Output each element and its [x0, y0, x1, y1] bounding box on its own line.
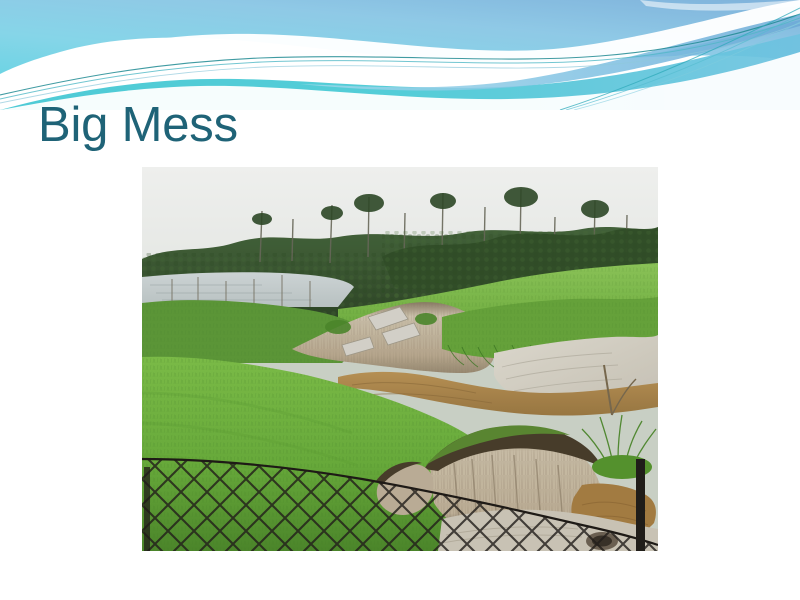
header-corner-line-1 [560, 8, 800, 110]
presentation-slide: Big Mess [0, 0, 800, 600]
header-topright-highlight [640, 0, 800, 11]
header-gradient-shape [0, 0, 800, 74]
slide-title: Big Mess [38, 96, 738, 154]
slide-header-decoration [0, 0, 800, 110]
header-hairline-3 [0, 23, 800, 103]
header-white-sweep [0, 0, 800, 110]
slide-picture[interactable] [142, 167, 658, 551]
header-blue-ribbon [300, 14, 800, 91]
header-hairline-1 [0, 14, 800, 95]
erosion-photo-illustration [142, 167, 658, 551]
header-hairline-2 [0, 18, 800, 99]
